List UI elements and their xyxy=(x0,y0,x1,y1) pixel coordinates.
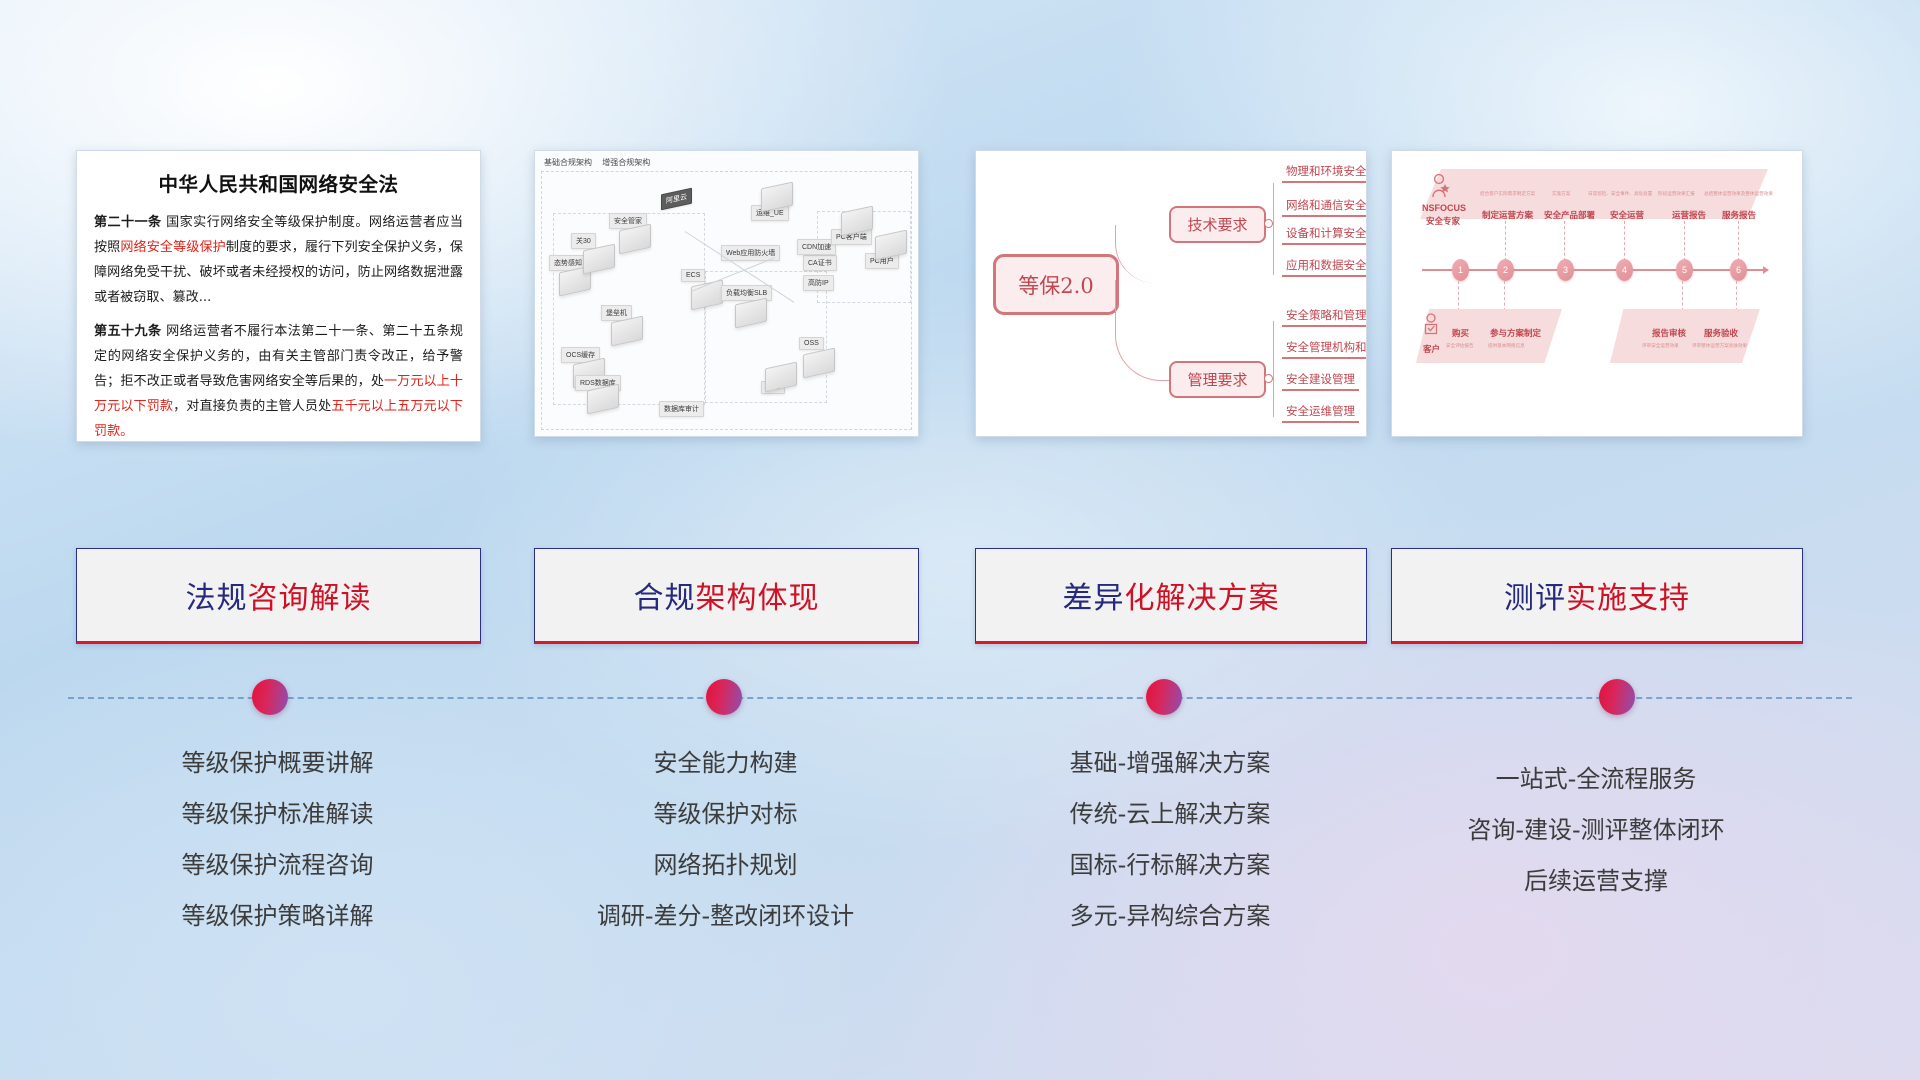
list-item: 多元-异构综合方案 xyxy=(975,891,1365,942)
article-59-part2: ，对直接负责的主管人员处 xyxy=(173,399,331,414)
timeline-dot-1[interactable] xyxy=(252,679,288,715)
mindmap-leaf-app-data: 应用和数据安全 xyxy=(1282,257,1367,277)
mindmap-dot-technical xyxy=(1264,219,1273,228)
mindmap-root-node: 等保2.0 xyxy=(993,254,1119,315)
bottom-step-3-title: 报告审核 xyxy=(1652,327,1686,339)
article-21-highlight: 网络安全等级保护 xyxy=(120,240,225,255)
list-item: 后续运营支撑 xyxy=(1391,856,1801,907)
label-box-regulation-consulting[interactable]: 法规咨询解读 xyxy=(76,548,481,644)
step-number-2: 2 xyxy=(1497,259,1514,281)
top-step-1-sub: 结合客户实际需求制定方案 xyxy=(1480,191,1535,197)
top-step-4-sub: 阶段运营效果汇报 xyxy=(1658,191,1695,197)
customer-person-icon xyxy=(1422,313,1442,339)
timeline-dot-3[interactable] xyxy=(1146,679,1182,715)
dash-top-1 xyxy=(1505,221,1507,261)
node-database-audit: 数据库审计 xyxy=(659,401,704,417)
expert-avatar-icon xyxy=(1430,173,1452,199)
label-3-red: 化解决方案 xyxy=(1125,581,1280,616)
timeline-dot-2[interactable] xyxy=(706,679,742,715)
node-ecs: ECS xyxy=(681,269,705,282)
timeline-connector xyxy=(0,668,1920,728)
label-1-blue: 法规 xyxy=(186,581,248,616)
timeline-axis xyxy=(1422,269,1768,271)
label-2-text: 合规架构体现 xyxy=(634,573,820,617)
architecture-diagram: 基础合规架构 增强合规架构 阿里云 态势感知 关30 安全管家 堡垒机 OCS缓… xyxy=(535,151,918,436)
top-step-5-sub: 总结整体运营效果及整体运营效果 xyxy=(1704,191,1773,197)
dash-bottom-1 xyxy=(1458,281,1460,311)
detail-columns-row: 等级保护概要讲解 等级保护标准解读 等级保护流程咨询 等级保护策略详解 安全能力… xyxy=(0,738,1920,968)
label-1-text: 法规咨询解读 xyxy=(186,573,372,617)
list-item: 安全能力构建 xyxy=(534,738,917,789)
node-gateway-30: 关30 xyxy=(571,233,596,249)
label-2-blue: 合规 xyxy=(634,581,696,616)
timeline-dot-4[interactable] xyxy=(1599,679,1635,715)
list-item: 等级保护标准解读 xyxy=(76,789,479,840)
mindmap-leaf-org-personnel: 安全管理机构和人员 xyxy=(1282,339,1367,359)
dash-top-2 xyxy=(1564,221,1566,261)
step-number-1: 1 xyxy=(1452,259,1469,281)
step-number-3: 3 xyxy=(1557,259,1574,281)
label-3-text: 差异化解决方案 xyxy=(1063,573,1280,617)
top-step-3-title: 安全运营 xyxy=(1610,209,1644,221)
label-2-red: 架构体现 xyxy=(696,581,820,616)
tab-enhanced-architecture[interactable]: 增强合规架构 xyxy=(602,158,650,167)
expert-brand: NSFOCUS xyxy=(1422,203,1466,213)
dash-bottom-2 xyxy=(1504,281,1506,311)
dash-bottom-3 xyxy=(1682,281,1684,311)
mindmap-leaf-physical-env: 物理和环境安全 xyxy=(1282,163,1367,183)
dash-top-3 xyxy=(1624,221,1626,261)
mindmap-leaf-construction-mgmt: 安全建设管理 xyxy=(1282,371,1359,391)
label-4-text: 测评实施支持 xyxy=(1504,573,1690,617)
list-item: 等级保护流程咨询 xyxy=(76,840,479,891)
label-3-blue: 差异 xyxy=(1063,581,1125,616)
label-box-evaluation-support[interactable]: 测评实施支持 xyxy=(1391,548,1803,644)
mindmap-branch-technical: 技术要求 xyxy=(1169,206,1266,243)
list-item: 调研-差分-整改闭环设计 xyxy=(534,891,917,942)
law-title: 中华人民共和国网络安全法 xyxy=(94,168,463,197)
detail-column-1: 等级保护概要讲解 等级保护标准解读 等级保护流程咨询 等级保护策略详解 xyxy=(76,738,479,942)
node-oss: OSS xyxy=(799,337,824,350)
tab-base-architecture[interactable]: 基础合规架构 xyxy=(544,158,592,167)
nsfocus-timeline: NSFOCUS 安全专家 制定运营方案 结合客户实际需求制定方案 安全产品部署 … xyxy=(1392,151,1802,436)
mindmap-leaf-device-compute: 设备和计算安全 xyxy=(1282,225,1367,245)
architecture-tabs: 基础合规架构 增强合规架构 xyxy=(544,157,658,168)
timeline-dashed-line xyxy=(68,697,1852,699)
step-number-6: 6 xyxy=(1730,259,1747,281)
top-step-3-sub: 日常巡检、安全事件、高危处置 xyxy=(1588,191,1652,197)
card-cybersecurity-law[interactable]: 中华人民共和国网络安全法 第二十一条 国家实行网络安全等级保护制度。网络运营者应… xyxy=(76,150,481,442)
article-21-label: 第二十一条 xyxy=(94,215,162,230)
top-step-5-title: 服务报告 xyxy=(1722,209,1756,221)
bottom-step-2-title: 参与方案制定 xyxy=(1490,327,1541,339)
top-step-1-title: 制定运营方案 xyxy=(1482,209,1533,221)
detail-column-4: 一站式-全流程服务 咨询-建设-测评整体闭环 后续运营支撑 xyxy=(1391,738,1801,907)
label-box-compliance-architecture[interactable]: 合规架构体现 xyxy=(534,548,919,644)
step-number-5: 5 xyxy=(1676,259,1693,281)
mindmap-leaf-ops-mgmt: 安全运维管理 xyxy=(1282,403,1359,423)
law-article-21: 第二十一条 国家实行网络安全等级保护制度。网络运营者应当按照网络安全等级保护制度… xyxy=(94,210,463,310)
dash-bottom-4 xyxy=(1736,281,1738,311)
bottom-step-4-sub: 评审整体运营方案验收效果 xyxy=(1692,343,1747,349)
mindmap-branch-management: 管理要求 xyxy=(1169,361,1266,398)
bottom-step-1-sub: 安全评估报告 xyxy=(1446,343,1474,349)
node-anti-ddos-ip: 高防IP xyxy=(803,275,834,291)
list-item: 等级保护概要讲解 xyxy=(76,738,479,789)
mindmap-curve-tech xyxy=(1115,225,1172,283)
image-cards-row: 中华人民共和国网络安全法 第二十一条 国家实行网络安全等级保护制度。网络运营者应… xyxy=(0,150,1920,440)
section-labels-row: 法规咨询解读 合规架构体现 差异化解决方案 测评实施支持 xyxy=(0,548,1920,646)
list-item: 等级保护对标 xyxy=(534,789,917,840)
expert-role: 安全专家 xyxy=(1426,215,1460,227)
detail-column-2: 安全能力构建 等级保护对标 网络拓扑规划 调研-差分-整改闭环设计 xyxy=(534,738,917,942)
step-number-4: 4 xyxy=(1616,259,1633,281)
node-ca-certificate: CA证书 xyxy=(803,255,837,271)
label-1-red: 咨询解读 xyxy=(248,581,372,616)
bottom-step-1-title: 购买 xyxy=(1452,327,1469,339)
law-text-block: 中华人民共和国网络安全法 第二十一条 国家实行网络安全等级保护制度。网络运营者应… xyxy=(77,151,480,441)
mindmap: 等保2.0 技术要求 物理和环境安全 网络和通信安全 设备和计算安全 应用和数据… xyxy=(976,151,1366,436)
list-item: 咨询-建设-测评整体闭环 xyxy=(1391,805,1801,856)
article-59-label: 第五十九条 xyxy=(94,324,162,339)
label-4-red: 实施支持 xyxy=(1566,581,1690,616)
card-nsfocus-service-timeline[interactable]: NSFOCUS 安全专家 制定运营方案 结合客户实际需求制定方案 安全产品部署 … xyxy=(1391,150,1803,437)
label-box-differentiated-solution[interactable]: 差异化解决方案 xyxy=(975,548,1367,644)
mindmap-leaf-network-comm: 网络和通信安全 xyxy=(1282,197,1367,217)
bottom-step-4-title: 服务验收 xyxy=(1704,327,1738,339)
list-item: 传统-云上解决方案 xyxy=(975,789,1365,840)
list-item: 基础-增强解决方案 xyxy=(975,738,1365,789)
top-step-2-sub: 实施方案 xyxy=(1552,191,1570,197)
detail-column-3: 基础-增强解决方案 传统-云上解决方案 国标-行标解决方案 多元-异构综合方案 xyxy=(975,738,1365,942)
list-item: 国标-行标解决方案 xyxy=(975,840,1365,891)
label-4-blue: 测评 xyxy=(1504,581,1566,616)
dash-top-4 xyxy=(1684,221,1686,261)
customer-role: 客户 xyxy=(1423,343,1440,355)
card-compliance-architecture[interactable]: 基础合规架构 增强合规架构 阿里云 态势感知 关30 安全管家 堡垒机 OCS缓… xyxy=(534,150,919,437)
mindmap-curve-mgmt xyxy=(1115,280,1172,381)
top-step-2-title: 安全产品部署 xyxy=(1544,209,1595,221)
card-dengbao-mindmap[interactable]: 等保2.0 技术要求 物理和环境安全 网络和通信安全 设备和计算安全 应用和数据… xyxy=(975,150,1367,437)
list-item: 网络拓扑规划 xyxy=(534,840,917,891)
law-article-59: 第五十九条 网络运营者不履行本法第二十一条、第二十五条规定的网络安全保护义务的，… xyxy=(94,319,463,442)
dash-top-5 xyxy=(1738,221,1740,261)
top-step-4-title: 运营报告 xyxy=(1672,209,1706,221)
bottom-step-2-sub: 提供基本网络信息 xyxy=(1488,343,1525,349)
list-item: 等级保护策略详解 xyxy=(76,891,479,942)
bottom-step-3-sub: 评审安全运营效果 xyxy=(1642,343,1679,349)
list-item: 一站式-全流程服务 xyxy=(1391,754,1801,805)
mindmap-leaf-policy-system: 安全策略和管理制度 xyxy=(1282,307,1367,327)
mindmap-dot-management xyxy=(1264,374,1273,383)
